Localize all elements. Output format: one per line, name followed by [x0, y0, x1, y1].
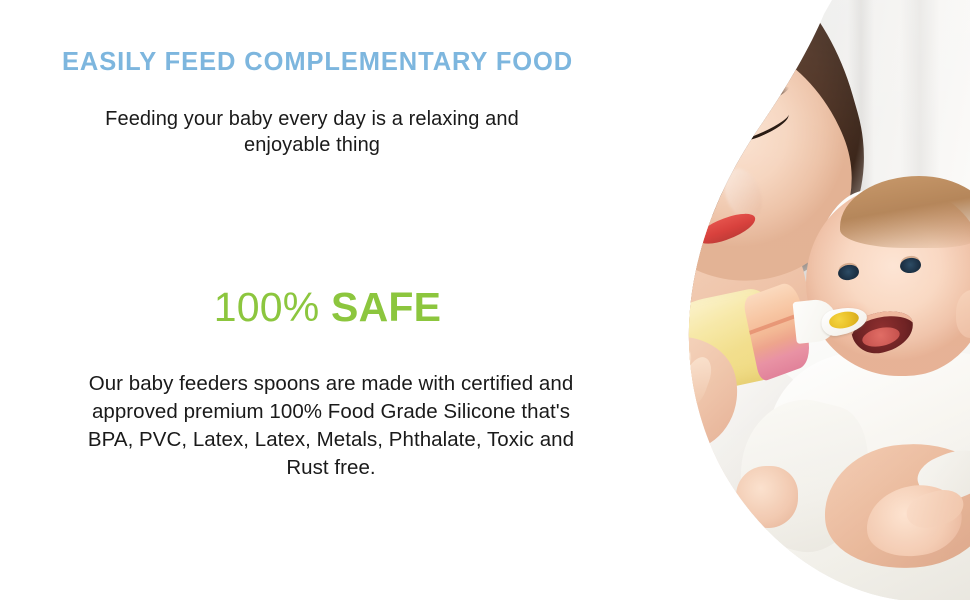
safety-badge: 100% SAFE — [60, 287, 595, 328]
baby-fist — [736, 466, 798, 528]
safety-badge-label: SAFE — [331, 284, 441, 330]
hero-photo-container — [600, 0, 970, 600]
mother-eyelash-left — [659, 148, 715, 181]
hero-photo-image — [600, 0, 970, 600]
text-column: EASILY FEED COMPLEMENTARY FOOD Feeding y… — [0, 0, 640, 600]
mother-finger — [629, 329, 678, 396]
hero-photo-mask — [600, 0, 970, 600]
subtitle-text: Feeding your baby every day is a relaxin… — [62, 106, 562, 159]
safety-badge-word — [319, 284, 331, 330]
body-line-1: Our baby feeders spoons are made with ce… — [50, 370, 612, 398]
mother-eyebrow-left — [658, 124, 714, 152]
body-line-3: BPA, PVC, Latex, Latex, Metals, Phthalat… — [50, 426, 612, 454]
body-line-4: Rust free. — [50, 454, 612, 482]
mother-finger — [652, 341, 697, 404]
body-line-2: approved premium 100% Food Grade Silicon… — [50, 398, 612, 426]
page-title: EASILY FEED COMPLEMENTARY FOOD — [62, 48, 602, 76]
body-paragraph: Our baby feeders spoons are made with ce… — [50, 370, 612, 482]
safety-badge-percent: 100% — [214, 284, 320, 330]
product-banner: EASILY FEED COMPLEMENTARY FOOD Feeding y… — [0, 0, 970, 600]
